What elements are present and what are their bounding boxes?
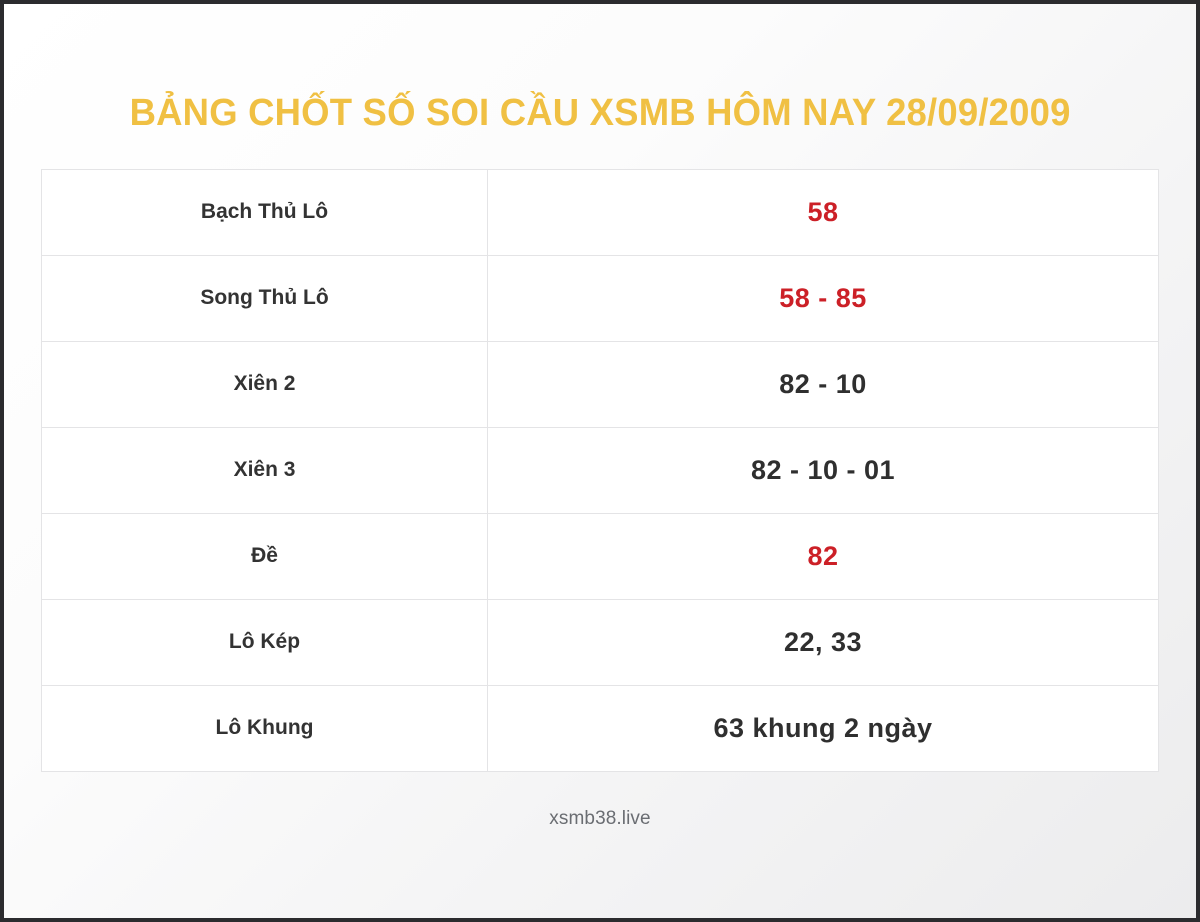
row-value: 82 [488, 514, 1158, 599]
page-title: BẢNG CHỐT SỐ SOI CẦU XSMB HÔM NAY 28/09/… [130, 94, 1071, 134]
table-row: Lô Kép 22, 33 [42, 600, 1158, 686]
row-label: Xiên 2 [42, 342, 488, 427]
row-value: 22, 33 [488, 600, 1158, 685]
row-label: Đề [42, 514, 488, 599]
table-row: Song Thủ Lô 58 - 85 [42, 256, 1158, 342]
table-row: Đề 82 [42, 514, 1158, 600]
row-label: Lô Khung [42, 686, 488, 771]
prediction-table: Bạch Thủ Lô 58 Song Thủ Lô 58 - 85 Xiên … [41, 169, 1159, 772]
table-row: Xiên 3 82 - 10 - 01 [42, 428, 1158, 514]
row-label: Bạch Thủ Lô [42, 170, 488, 255]
page-frame: BẢNG CHỐT SỐ SOI CẦU XSMB HÔM NAY 28/09/… [4, 4, 1196, 918]
row-value: 58 [488, 170, 1158, 255]
row-value: 82 - 10 - 01 [488, 428, 1158, 513]
row-label: Lô Kép [42, 600, 488, 685]
table-row: Lô Khung 63 khung 2 ngày [42, 686, 1158, 772]
row-label: Song Thủ Lô [42, 256, 488, 341]
row-value: 82 - 10 [488, 342, 1158, 427]
row-value: 63 khung 2 ngày [488, 686, 1158, 771]
site-watermark: xsmb38.live [549, 808, 650, 830]
row-value: 58 - 85 [488, 256, 1158, 341]
table-row: Bạch Thủ Lô 58 [42, 170, 1158, 256]
table-row: Xiên 2 82 - 10 [42, 342, 1158, 428]
row-label: Xiên 3 [42, 428, 488, 513]
